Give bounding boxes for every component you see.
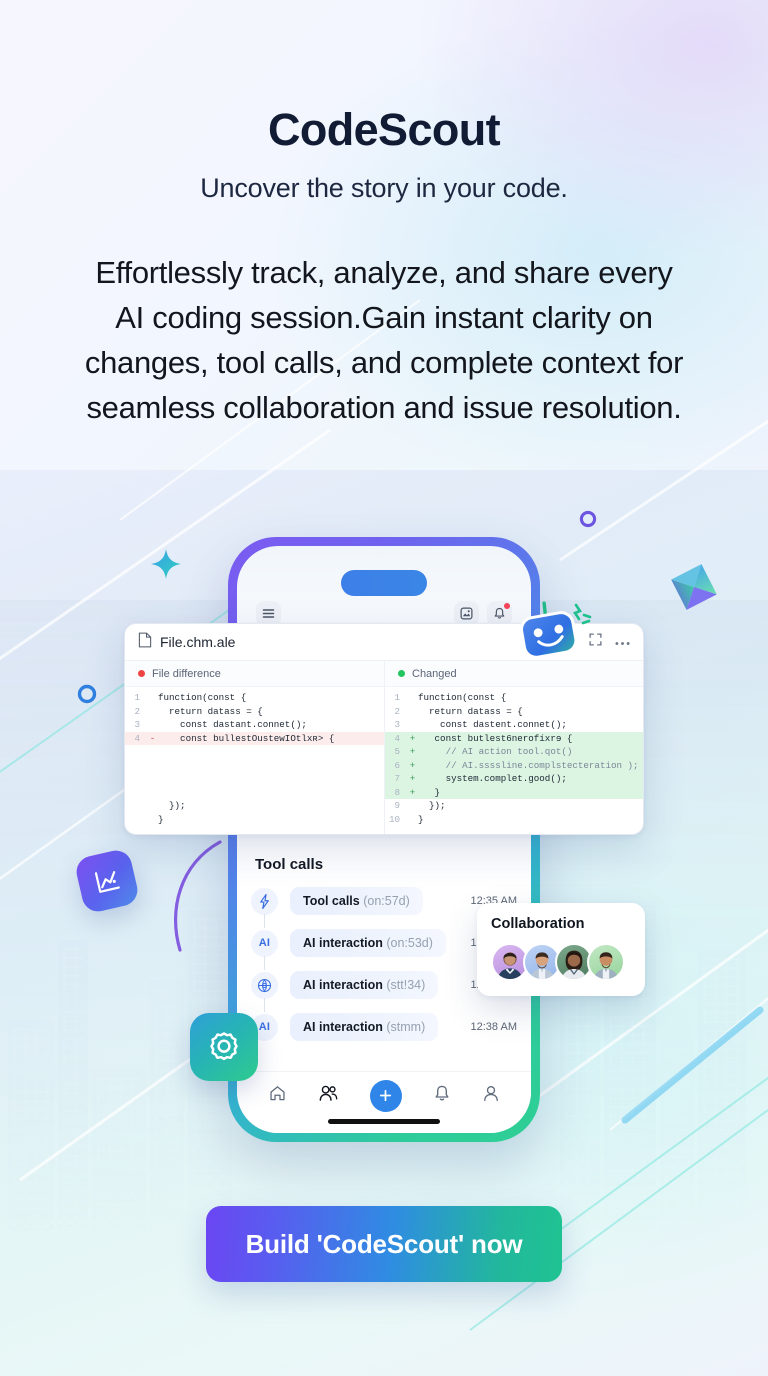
tool-call-row[interactable]: AI AI interaction (stmm) 12:38 AM	[251, 1013, 517, 1041]
hero-section: CodeScout Uncover the story in your code…	[0, 0, 768, 430]
purple-ring-icon	[578, 509, 598, 529]
collaboration-title: Collaboration	[491, 916, 631, 932]
line-number: 4	[385, 732, 407, 746]
line-number	[125, 813, 147, 827]
line-number: 7	[385, 772, 407, 786]
phone-bottom-nav	[237, 1071, 531, 1133]
document-icon	[138, 632, 152, 653]
code-line: const bullestOustewIOtlxʀ> {	[158, 732, 384, 746]
diff-column-header: File difference	[125, 661, 384, 687]
image-icon[interactable]	[454, 601, 479, 626]
code-line: return datass = {	[418, 705, 643, 719]
status-dot-red	[138, 670, 145, 677]
code-line: const dastant.connet();	[158, 718, 384, 732]
line-number: 4	[125, 732, 147, 746]
line-sign	[407, 813, 418, 827]
line-sign: +	[407, 732, 418, 746]
line-sign: -	[147, 732, 158, 746]
spiral-icon	[251, 972, 278, 999]
tool-call-label: AI interaction	[303, 1020, 383, 1034]
line-number	[125, 786, 147, 800]
code-block-changed: 1function(const { 2 return datass = { 3 …	[385, 687, 643, 834]
line-sign	[147, 772, 158, 786]
tool-call-pill[interactable]: AI interaction (stt!34)	[290, 971, 438, 999]
code-block-original: 1function(const { 2 return datass = { 3 …	[125, 687, 384, 834]
line-number	[125, 745, 147, 759]
line-sign	[147, 691, 158, 705]
build-codescout-button[interactable]: Build 'CodeScout' now	[206, 1206, 562, 1282]
line-sign	[147, 745, 158, 759]
tool-connector	[264, 956, 265, 970]
more-horizontal-icon[interactable]	[615, 633, 630, 651]
code-line: const butlest6nerofíxrɘ {	[418, 732, 643, 746]
tool-call-label: AI interaction	[303, 978, 383, 992]
line-sign	[147, 813, 158, 827]
line-number: 6	[385, 759, 407, 773]
sparkle-star-icon	[150, 548, 182, 580]
robot-mascot-icon	[514, 595, 572, 647]
bell-icon[interactable]	[487, 601, 512, 626]
code-line: function(const {	[418, 691, 643, 705]
description-paragraph: Effortlessly track, analyze, and share e…	[79, 250, 689, 430]
tool-call-sub: (stmm)	[386, 1020, 425, 1034]
line-number: 10	[385, 813, 407, 827]
hamburger-menu-icon[interactable]	[256, 601, 281, 626]
diff-column-original: File difference 1function(const { 2 retu…	[125, 661, 384, 834]
notification-badge	[504, 603, 510, 609]
gem-diamond-icon	[665, 558, 723, 616]
line-sign: +	[407, 786, 418, 800]
code-line	[158, 759, 384, 773]
code-line: const dastent.connet();	[418, 718, 643, 732]
line-sign	[147, 718, 158, 732]
line-sign: +	[407, 759, 418, 773]
line-number: 8	[385, 786, 407, 800]
code-line	[158, 745, 384, 759]
blue-ring-icon	[76, 683, 98, 705]
diff-column-changed: Changed 1function(const { 2 return datas…	[384, 661, 643, 834]
line-sign: +	[407, 772, 418, 786]
nav-home-icon[interactable]	[268, 1084, 287, 1108]
line-number: 3	[385, 718, 407, 732]
tool-call-sub: (on:57d)	[363, 894, 410, 908]
tagline: Uncover the story in your code.	[0, 173, 768, 204]
code-line: return datass = {	[158, 705, 384, 719]
tool-call-sub: (stt!34)	[386, 978, 425, 992]
line-number: 5	[385, 745, 407, 759]
tool-call-pill[interactable]: Tool calls (on:57d)	[290, 887, 423, 915]
tool-connector	[264, 998, 265, 1012]
line-number	[125, 759, 147, 773]
line-sign	[147, 799, 158, 813]
diff-left-label: File difference	[152, 668, 221, 680]
lightning-bolt-icon	[251, 888, 278, 915]
line-number: 3	[125, 718, 147, 732]
tool-call-pill[interactable]: AI interaction (stmm)	[290, 1013, 438, 1041]
tool-call-label: Tool calls	[303, 894, 360, 908]
line-sign	[147, 786, 158, 800]
tool-call-label: AI interaction	[303, 936, 383, 950]
diff-filename: File.chm.ale	[160, 634, 235, 650]
line-sign	[407, 799, 418, 813]
tool-connector	[264, 914, 265, 928]
line-number: 2	[125, 705, 147, 719]
line-sign: +	[407, 745, 418, 759]
tool-call-pill[interactable]: AI interaction (on:53d)	[290, 929, 446, 957]
nav-add-button[interactable]	[370, 1080, 402, 1112]
phone-notch	[341, 570, 427, 596]
diff-column-header: Changed	[385, 661, 643, 687]
code-line: });	[158, 799, 384, 813]
code-line: function(const {	[158, 691, 384, 705]
tool-call-time: 12:38 AM	[465, 1021, 517, 1033]
line-number: 9	[385, 799, 407, 813]
line-number	[125, 799, 147, 813]
line-number	[125, 772, 147, 786]
code-line: }	[418, 786, 643, 800]
line-sign	[147, 759, 158, 773]
page-title: CodeScout	[0, 104, 768, 156]
line-sign	[407, 691, 418, 705]
code-line: }	[418, 813, 643, 827]
nav-profile-icon[interactable]	[482, 1084, 500, 1108]
status-dot-green	[398, 670, 405, 677]
ai-text-icon: AI	[251, 930, 278, 957]
code-line: // AI.ssssline.complstecteration );	[418, 759, 643, 773]
diff-right-label: Changed	[412, 668, 457, 680]
line-number: 1	[125, 691, 147, 705]
code-line	[158, 772, 384, 786]
tool-calls-title: Tool calls	[255, 856, 517, 873]
code-line: }	[158, 813, 384, 827]
purple-swoosh	[150, 838, 240, 958]
nav-alerts-icon[interactable]	[433, 1084, 451, 1108]
code-line: system.complet.good();	[418, 772, 643, 786]
line-sign	[407, 718, 418, 732]
line-sign	[407, 705, 418, 719]
phone-mockup: Tool calls Tool calls (on:57d) 12:35 AM …	[228, 537, 540, 1142]
collaboration-card: Collaboration	[477, 903, 645, 996]
line-number: 2	[385, 705, 407, 719]
avatar-group	[491, 943, 631, 981]
code-line	[158, 786, 384, 800]
avatar[interactable]	[587, 943, 625, 981]
code-line: });	[418, 799, 643, 813]
tool-call-sub: (on:53d)	[386, 936, 433, 950]
gear-tile-icon	[190, 1013, 258, 1081]
nav-people-icon[interactable]	[318, 1084, 339, 1108]
line-number: 1	[385, 691, 407, 705]
code-line: // AI action tool.qot()	[418, 745, 643, 759]
home-indicator	[328, 1119, 440, 1124]
line-sign	[147, 705, 158, 719]
